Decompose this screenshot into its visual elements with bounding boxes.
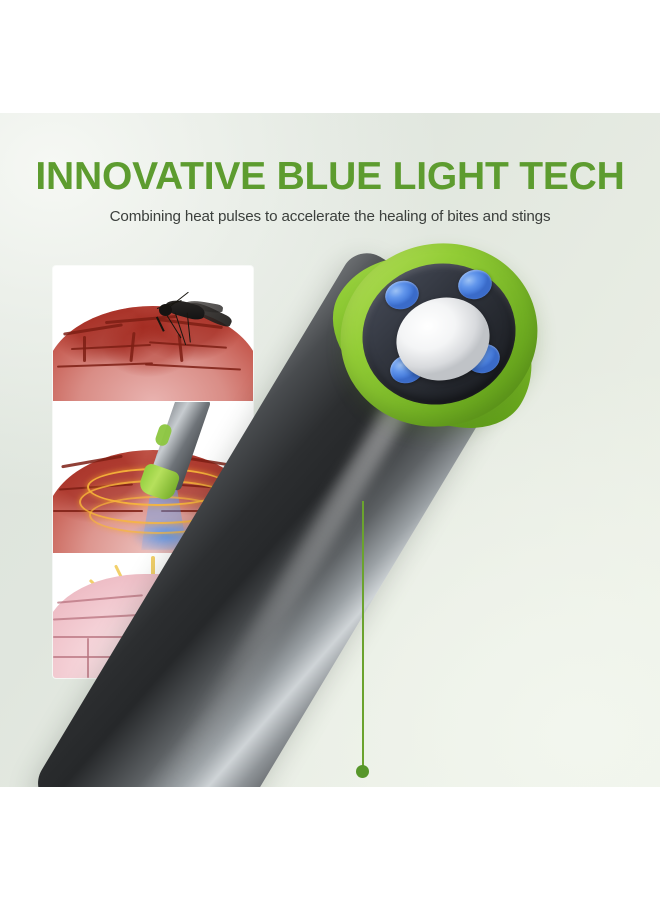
page-subtitle: Combining heat pulses to accelerate the … (0, 208, 660, 225)
device-hero-image (318, 248, 660, 787)
page-title: INNOVATIVE BLUE LIGHT TECH (0, 155, 660, 199)
callout-connector-dot (356, 765, 369, 778)
content-panel: INNOVATIVE BLUE LIGHT TECH Combining hea… (0, 113, 660, 787)
illustration-panel-mosquito-bite (53, 266, 253, 402)
callout-connector-line (362, 501, 364, 771)
product-feature-graphic: INNOVATIVE BLUE LIGHT TECH Combining hea… (0, 0, 660, 900)
